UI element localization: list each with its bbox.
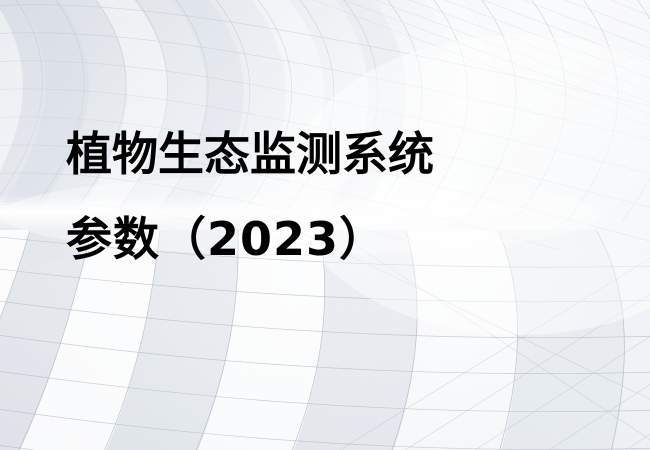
title-slide: 植物生态监测系统 参数（2023） (0, 0, 650, 450)
background-graphic (0, 0, 650, 450)
